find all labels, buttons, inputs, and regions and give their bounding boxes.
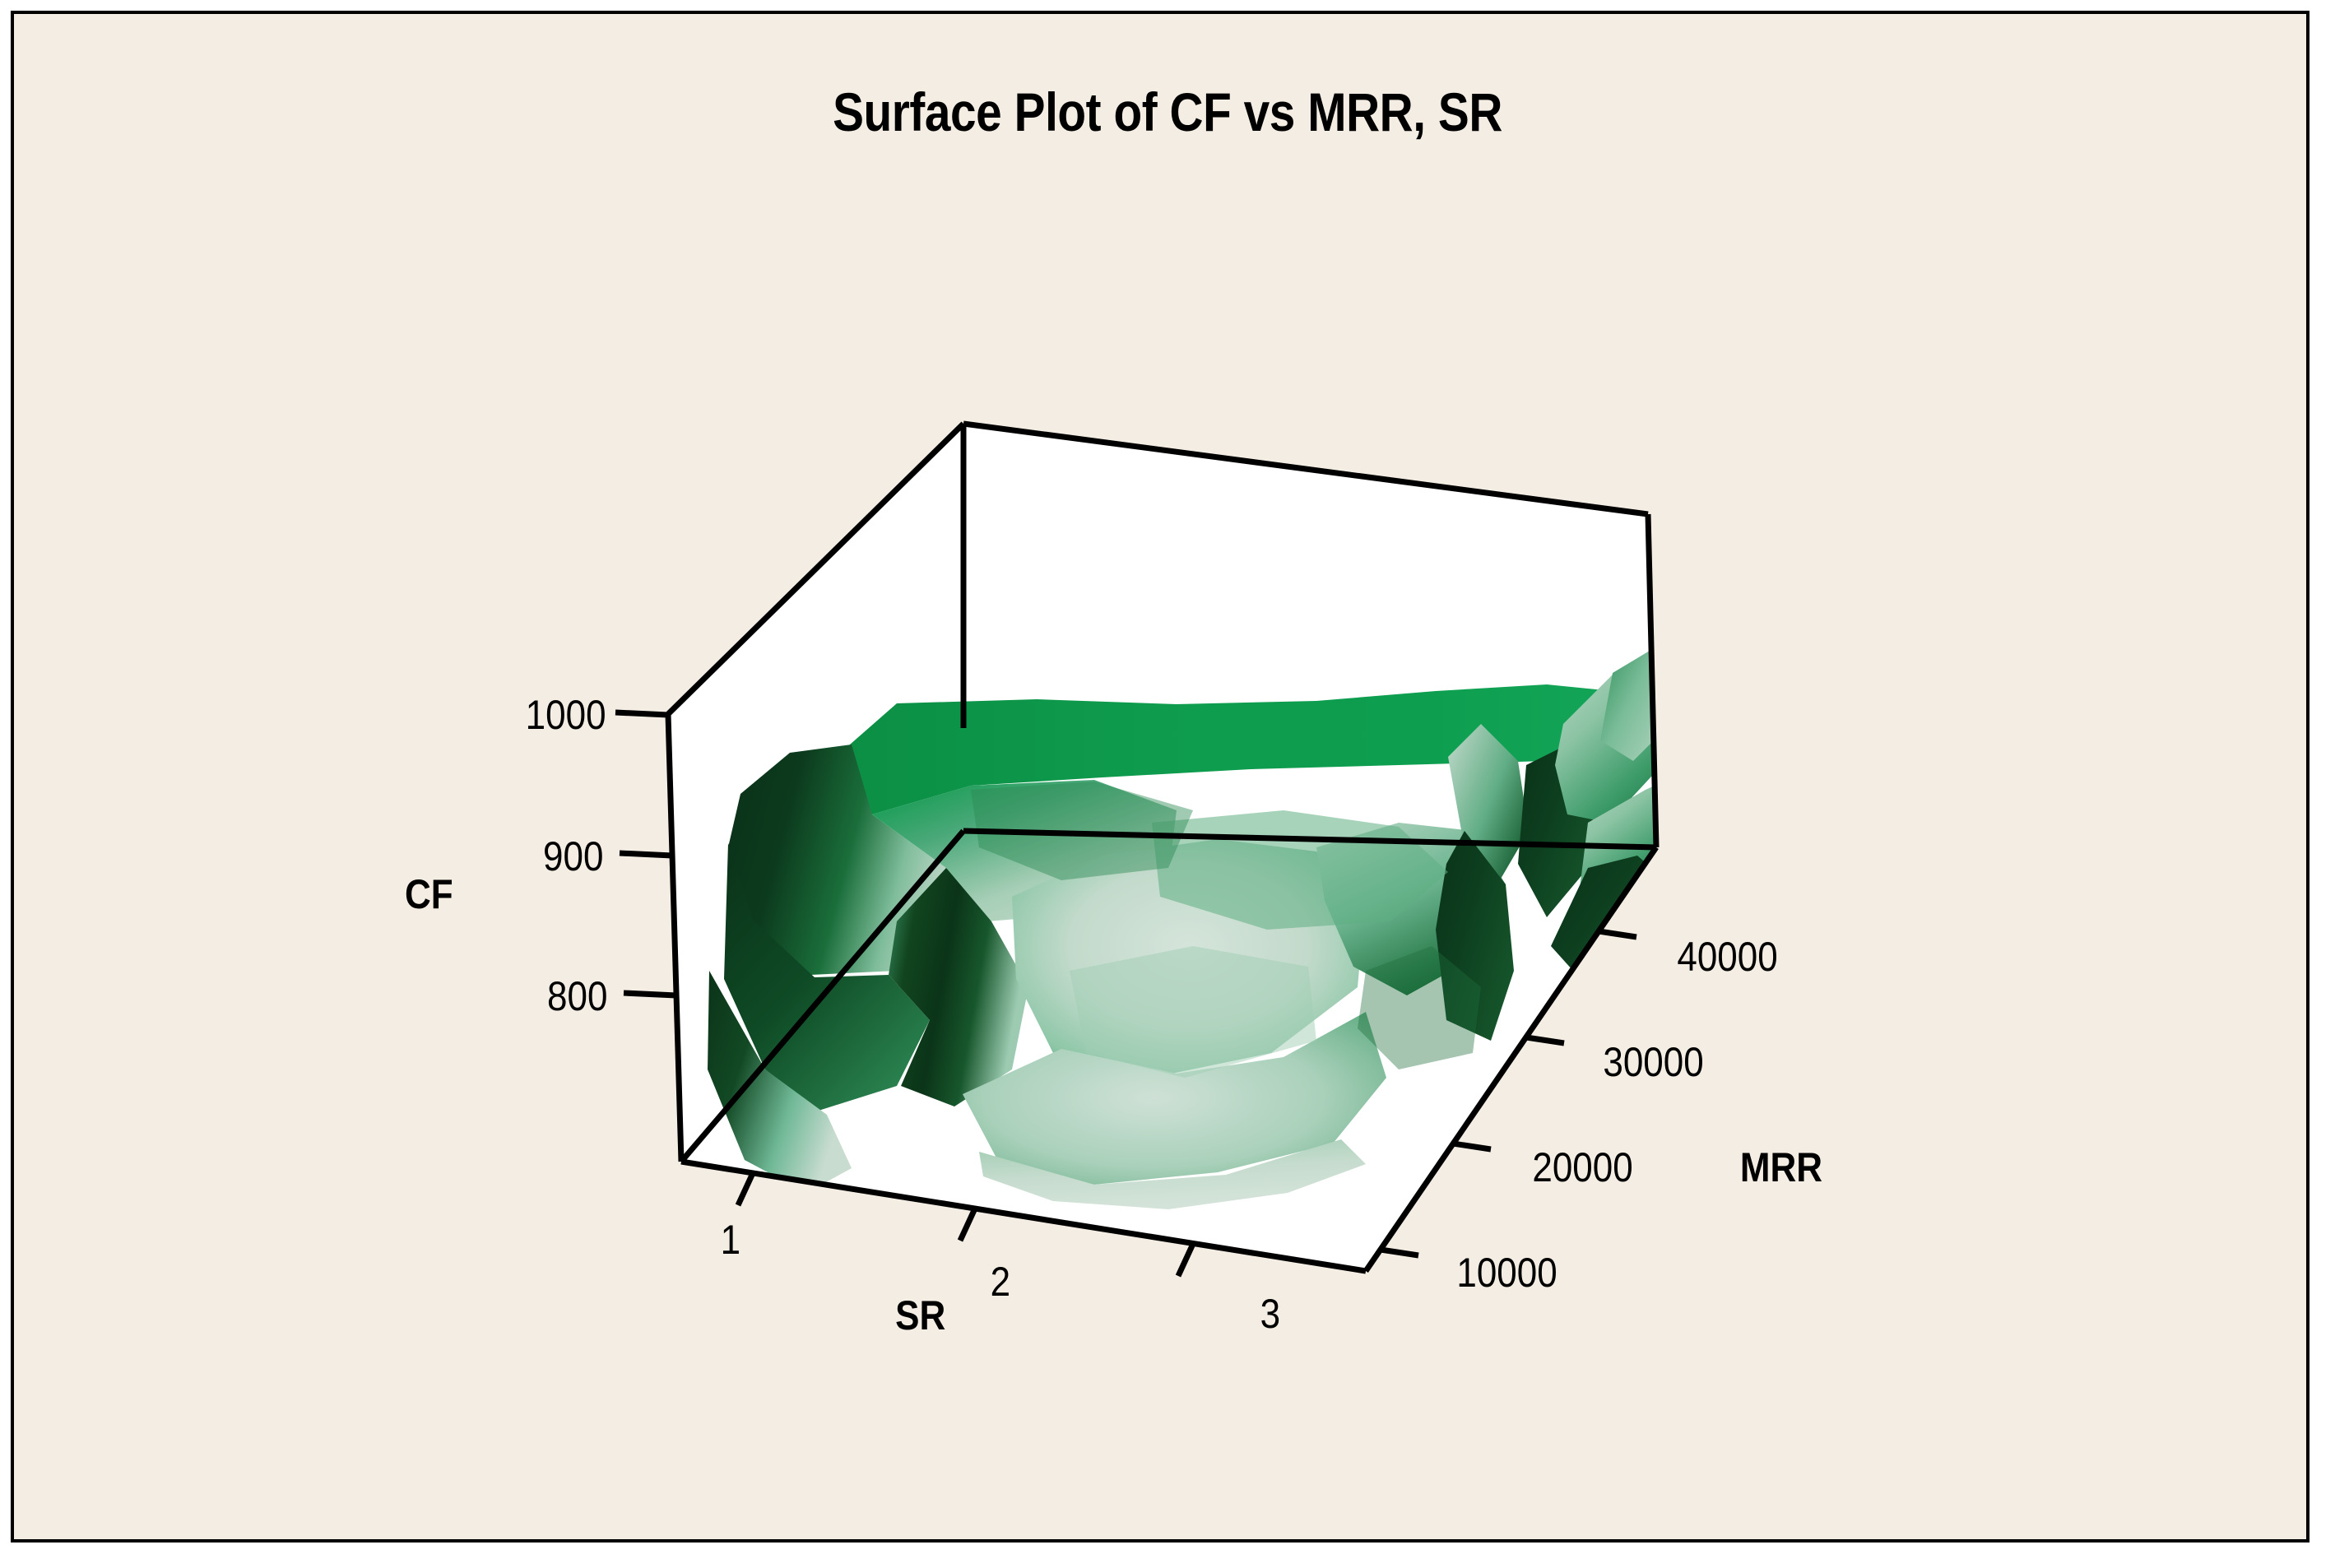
- z-tick-800: 800: [547, 972, 607, 1020]
- surface-plot-figure: Surface Plot of CF vs MRR, SR: [0, 0, 2335, 1568]
- y-tick-40000: 40000: [1677, 933, 1777, 981]
- y-tick-10000: 10000: [1456, 1249, 1557, 1297]
- x-tick-3: 3: [1260, 1290, 1280, 1338]
- z-axis-title: CF: [405, 870, 453, 918]
- y-axis-title: MRR: [1740, 1144, 1822, 1191]
- y-tick-30000: 30000: [1603, 1038, 1703, 1086]
- z-tick-900: 900: [543, 833, 603, 880]
- x-tick-2: 2: [991, 1258, 1010, 1306]
- plot-scene: [0, 0, 2335, 1568]
- y-tick-20000: 20000: [1532, 1144, 1632, 1191]
- z-tick-1000: 1000: [526, 691, 606, 739]
- x-axis-title: SR: [895, 1292, 945, 1339]
- x-tick-1: 1: [721, 1216, 740, 1264]
